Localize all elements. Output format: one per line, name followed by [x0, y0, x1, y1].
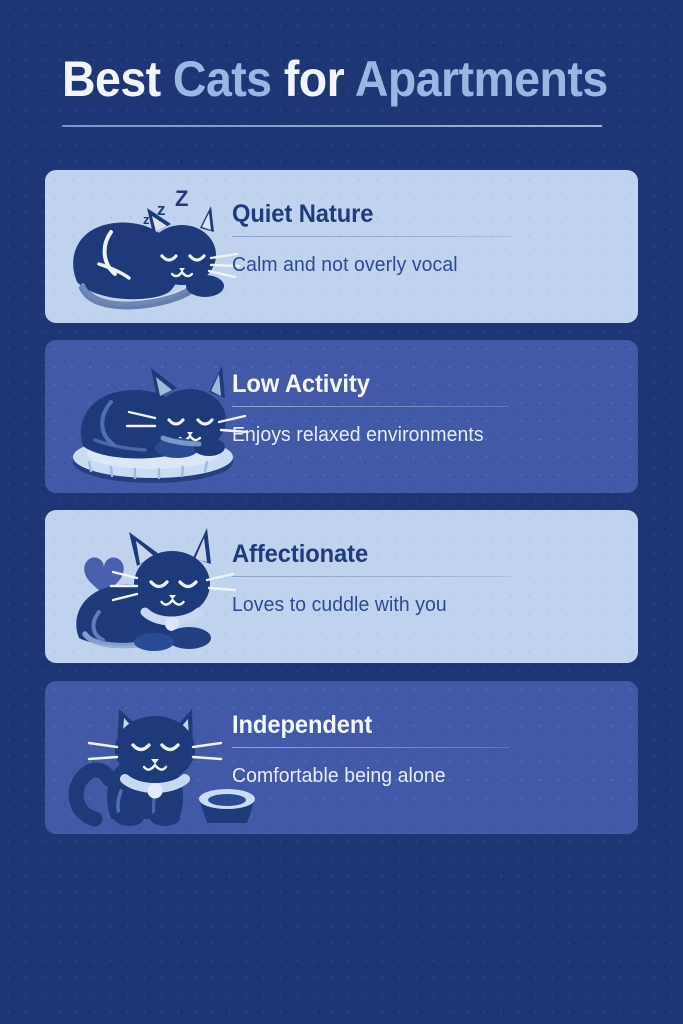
card-subtitle: Loves to cuddle with you	[232, 593, 620, 617]
page-header: Best Cats for Apartments	[62, 50, 622, 108]
feature-card-quiet-nature[interactable]: z z Z	[45, 170, 638, 323]
cat-resting-on-cushion-icon	[59, 346, 259, 488]
sleeping-curled-cat-with-zzz-icon: z z Z	[59, 176, 259, 318]
feature-card-low-activity[interactable]: Low Activity Enjoys relaxed environments	[45, 340, 638, 493]
page-title: Best Cats for Apartments	[62, 50, 583, 108]
card-divider	[232, 747, 509, 748]
card-subtitle: Calm and not overly vocal	[232, 253, 620, 277]
card-text-block: Affectionate Loves to cuddle with you	[232, 540, 632, 617]
card-title: Affectionate	[232, 540, 612, 569]
card-divider	[232, 406, 509, 407]
card-subtitle: Comfortable being alone	[232, 764, 620, 788]
card-text-block: Independent Comfortable being alone	[232, 711, 632, 788]
card-title: Low Activity	[232, 370, 612, 399]
lying-cat-with-heart-icon	[59, 516, 259, 658]
card-text-block: Quiet Nature Calm and not overly vocal	[232, 200, 632, 277]
title-word-best: Best	[62, 51, 161, 107]
title-word-for: for	[284, 51, 344, 107]
card-divider	[232, 236, 509, 237]
card-divider	[232, 576, 509, 577]
card-title: Quiet Nature	[232, 200, 612, 229]
card-subtitle: Enjoys relaxed environments	[232, 423, 620, 447]
sitting-cat-with-food-bowl-icon	[59, 687, 259, 829]
title-word-cats: Cats	[173, 51, 272, 107]
svg-text:Z: Z	[175, 186, 188, 211]
feature-card-affectionate[interactable]: Affectionate Loves to cuddle with you	[45, 510, 638, 663]
infographic-page: Best Cats for Apartments z z Z	[0, 0, 683, 1024]
card-title: Independent	[232, 711, 612, 740]
feature-card-independent[interactable]: Independent Comfortable being alone	[45, 681, 638, 834]
title-word-apartments: Apartments	[355, 51, 608, 107]
title-divider	[62, 125, 602, 127]
card-text-block: Low Activity Enjoys relaxed environments	[232, 370, 632, 447]
